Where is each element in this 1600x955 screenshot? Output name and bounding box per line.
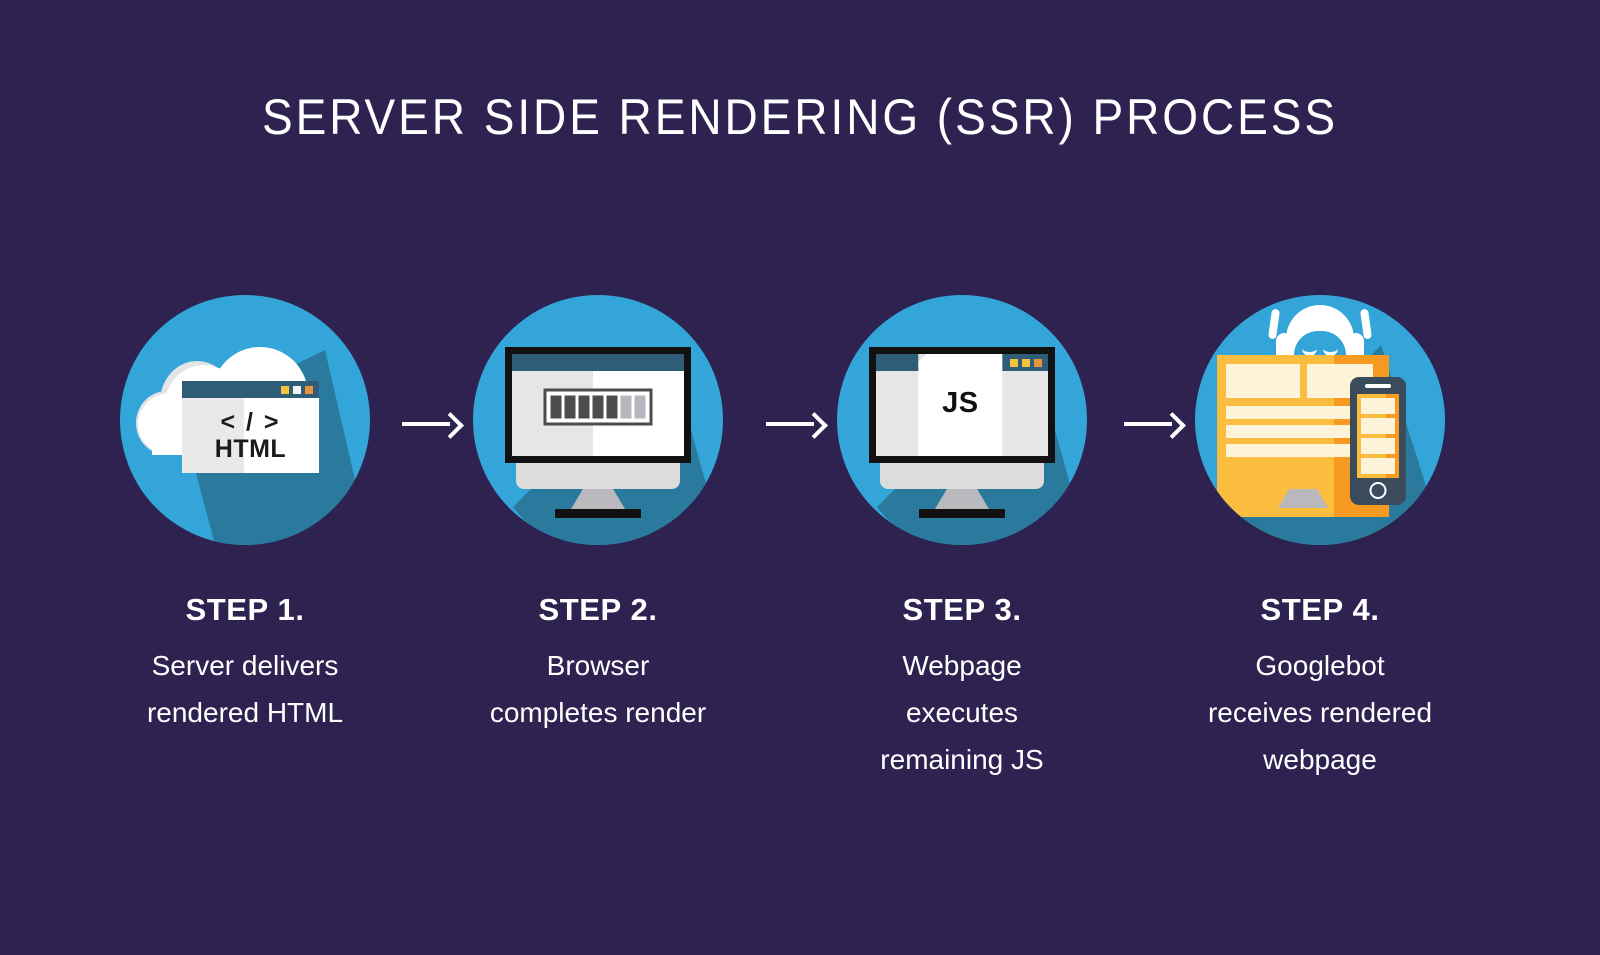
monitor: JS bbox=[869, 347, 1055, 518]
window-dot-yellow-icon bbox=[281, 386, 289, 394]
step-2-description-line: Browser bbox=[432, 642, 764, 689]
step-3-description: Webpage executes remaining JS bbox=[782, 642, 1142, 783]
monitor-bezel bbox=[505, 347, 691, 463]
browser-body: < / > HTML bbox=[182, 398, 319, 473]
window-dot-yellow-icon bbox=[1022, 359, 1030, 367]
phone-content-bar bbox=[1361, 438, 1395, 454]
step-4-caption: STEP 4. Googlebot receives rendered webp… bbox=[1140, 593, 1500, 783]
step-2-caption: STEP 2. Browser completes render bbox=[418, 593, 778, 736]
step-1-heading: STEP 1. bbox=[65, 593, 425, 627]
browser-title-bar bbox=[182, 381, 319, 398]
monitor-body bbox=[516, 463, 680, 489]
loading-segment-filled bbox=[593, 396, 604, 419]
monitor-screen bbox=[512, 354, 684, 456]
step-1-description-line: rendered HTML bbox=[79, 689, 411, 736]
code-brackets-text: < / > bbox=[220, 409, 280, 436]
loading-segment-filled bbox=[565, 396, 576, 419]
step-4-description-line: Googlebot bbox=[1154, 642, 1486, 689]
step-4-heading: STEP 4. bbox=[1140, 593, 1500, 627]
phone-content-bar bbox=[1361, 458, 1395, 474]
monitor-screen: JS bbox=[876, 354, 1048, 456]
step-1-caption: STEP 1. Server delivers rendered HTML bbox=[65, 593, 425, 736]
step-3-description-line: remaining JS bbox=[796, 736, 1128, 783]
monitor bbox=[505, 347, 691, 518]
window-dot-white-icon bbox=[293, 386, 301, 394]
step-2-description: Browser completes render bbox=[418, 642, 778, 736]
loading-segment-empty bbox=[635, 396, 646, 419]
loading-segment-filled bbox=[607, 396, 618, 419]
step-4-description-line: webpage bbox=[1154, 736, 1486, 783]
monitor-js-document-icon: JS bbox=[837, 295, 1087, 545]
browser-body-text: < / > HTML bbox=[182, 398, 319, 473]
smartphone bbox=[1350, 377, 1406, 505]
monitor-foot bbox=[919, 509, 1005, 518]
step-1: < / > HTML STEP 1. Server delivers rende… bbox=[65, 295, 425, 736]
circle-background bbox=[473, 295, 723, 545]
step-1-description-line: Server delivers bbox=[79, 642, 411, 689]
monitor-bezel: JS bbox=[869, 347, 1055, 463]
googlebot-monitor-phone-icon bbox=[1195, 295, 1445, 545]
screen-title-bar bbox=[512, 354, 684, 371]
window-dot-yellow-icon bbox=[1010, 359, 1018, 367]
step-2: STEP 2. Browser completes render bbox=[418, 295, 778, 736]
step-3-description-line: Webpage bbox=[796, 642, 1128, 689]
circle-background bbox=[1195, 295, 1445, 545]
step-3-caption: STEP 3. Webpage executes remaining JS bbox=[782, 593, 1142, 783]
step-1-description: Server delivers rendered HTML bbox=[65, 642, 425, 736]
window-dot-orange-icon bbox=[1034, 359, 1042, 367]
phone-content-bar bbox=[1361, 418, 1395, 434]
js-label-text: JS bbox=[918, 354, 1002, 456]
step-4-icon-circle bbox=[1195, 295, 1445, 545]
step-2-icon-circle bbox=[473, 295, 723, 545]
phone-speaker bbox=[1365, 384, 1391, 388]
window-dot-orange-icon bbox=[305, 386, 313, 394]
step-3-description-line: executes bbox=[796, 689, 1128, 736]
js-document-icon: JS bbox=[918, 354, 1002, 456]
phone-content-bar bbox=[1361, 398, 1395, 414]
monitor-stand bbox=[571, 489, 625, 509]
circle-background: JS bbox=[837, 295, 1087, 545]
step-1-icon-circle: < / > HTML bbox=[120, 295, 370, 545]
step-3-heading: STEP 3. bbox=[782, 593, 1142, 627]
loading-bar bbox=[544, 389, 653, 426]
infographic-canvas: SERVER SIDE RENDERING (SSR) PROCESS bbox=[0, 0, 1600, 955]
phone-home-button bbox=[1370, 482, 1387, 499]
step-2-description-line: completes render bbox=[432, 689, 764, 736]
html-label-text: HTML bbox=[215, 436, 286, 463]
window-dots bbox=[1010, 359, 1042, 367]
monitor-foot bbox=[555, 509, 641, 518]
step-3-icon-circle: JS bbox=[837, 295, 1087, 545]
loading-segment-filled bbox=[551, 396, 562, 419]
loading-segment-filled bbox=[579, 396, 590, 419]
loading-segment-empty bbox=[621, 396, 632, 419]
step-4-description: Googlebot receives rendered webpage bbox=[1140, 642, 1500, 783]
step-3: JS STEP 3. Webpage e bbox=[782, 295, 1142, 783]
monitor-stand bbox=[935, 489, 989, 509]
phone-screen bbox=[1357, 394, 1399, 478]
content-block bbox=[1226, 364, 1300, 398]
step-4: STEP 4. Googlebot receives rendered webp… bbox=[1140, 295, 1500, 783]
circle-background: < / > HTML bbox=[120, 295, 370, 545]
page-title: SERVER SIDE RENDERING (SSR) PROCESS bbox=[64, 88, 1536, 146]
cloud-html-window-icon: < / > HTML bbox=[120, 295, 370, 545]
browser-window: < / > HTML bbox=[182, 381, 319, 473]
monitor-body bbox=[880, 463, 1044, 489]
step-4-description-line: receives rendered bbox=[1154, 689, 1486, 736]
monitor-loading-bar-icon bbox=[473, 295, 723, 545]
step-2-heading: STEP 2. bbox=[418, 593, 778, 627]
steps-row: < / > HTML STEP 1. Server delivers rende… bbox=[0, 295, 1600, 855]
window-dots bbox=[281, 386, 313, 394]
